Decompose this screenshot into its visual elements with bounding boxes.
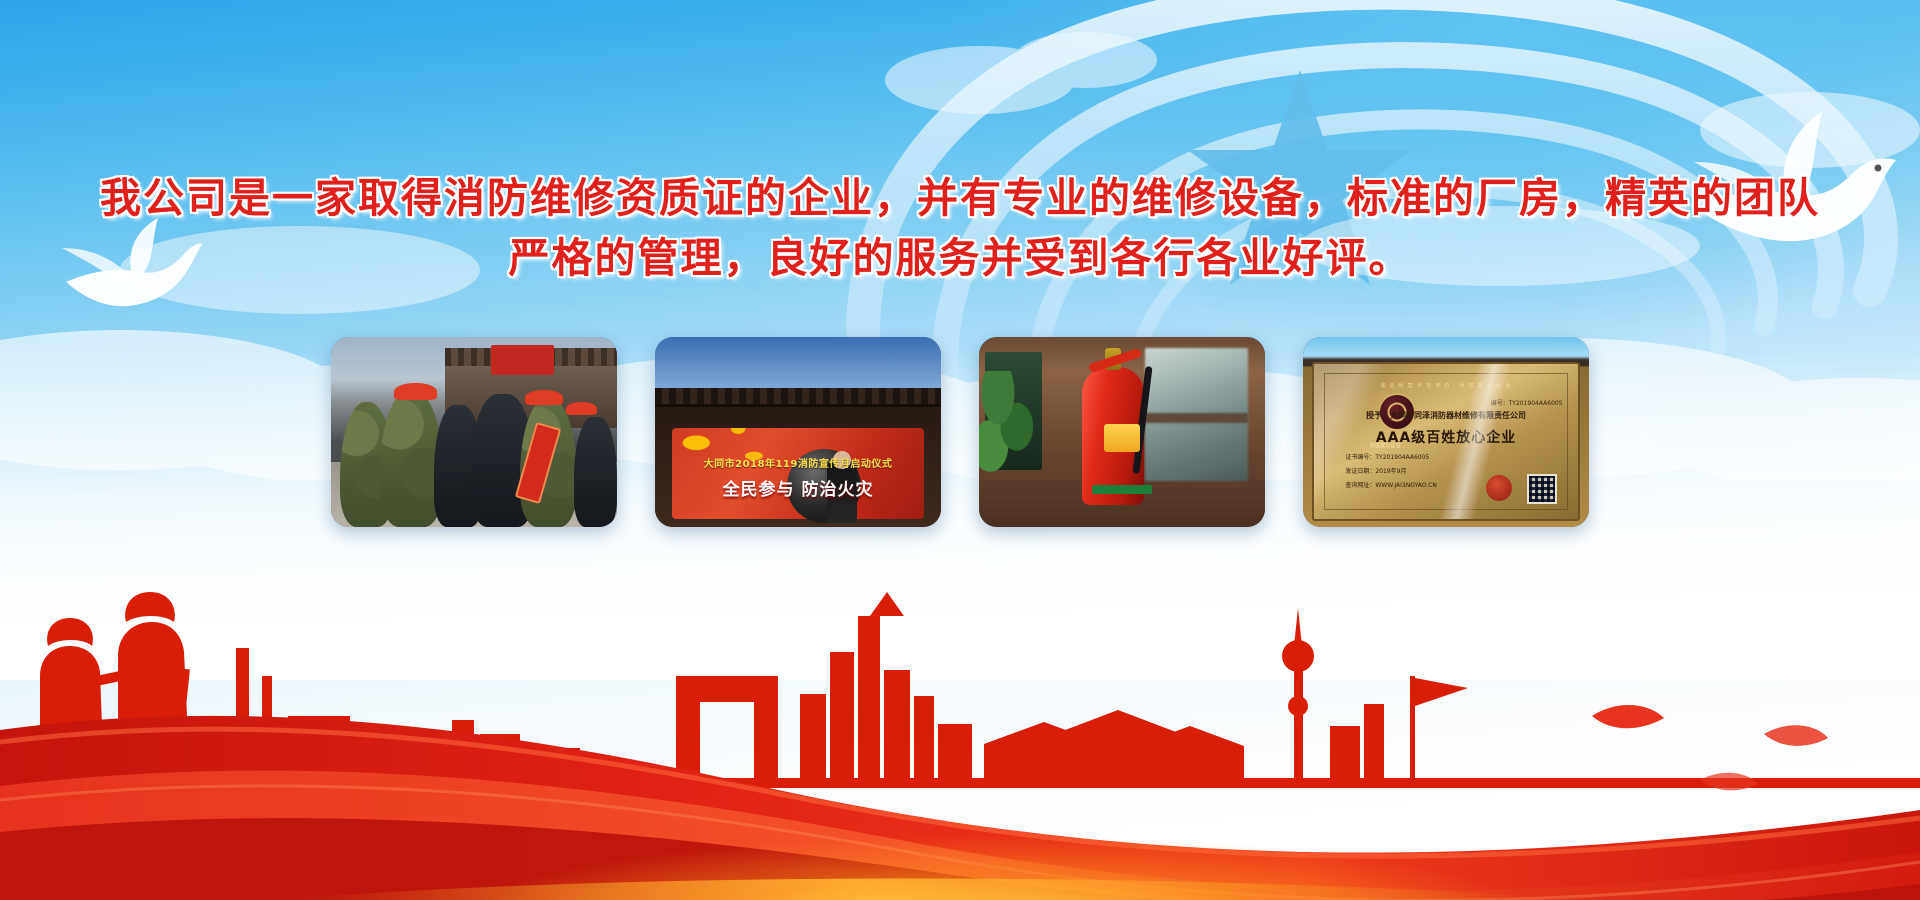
headline-line-2: 严格的管理，良好的服务并受到各行各业好评。	[0, 228, 1920, 288]
photo-fire-extinguisher	[979, 337, 1265, 527]
photo-aaa-plaque: 诚 信 经 营 示 范 单 位 · 百 姓 放 心 企 业 编号：TY20190…	[1303, 337, 1589, 527]
plaque-issue-date: 发证日期：2019年9月	[1345, 466, 1406, 475]
photo-card-leader-inspection[interactable]: 领导检查消防装备现场	[331, 337, 617, 527]
plaque-cert-no: 证书编号：TY201904AA6005	[1345, 452, 1429, 461]
firefighter-silhouette	[40, 592, 190, 781]
plaque-award-title: AAA级百姓放心企业	[1335, 427, 1557, 447]
photo-leader-inspection	[331, 337, 617, 527]
plaque-grant-line: 授予：大同市同泽消防器材维修有限责任公司	[1335, 410, 1557, 421]
red-ribbon-highlight	[0, 729, 1920, 856]
red-ribbon-highlight-2	[0, 786, 1920, 900]
petal-accents	[1592, 705, 1828, 790]
photo-card-119-ceremony[interactable]: 大同市2018年119消防宣传月启动仪式 全民参与 防治火灾 119消防宣传月启…	[655, 337, 941, 527]
gold-glow-strip	[300, 879, 1560, 900]
headline-line-1: 我公司是一家取得消防维修资质证的企业，并有专业的维修设备，标准的厂房，精英的团队	[0, 168, 1920, 228]
ceremony-banner-line-1: 大同市2018年119消防宣传月启动仪式	[675, 455, 921, 470]
plaque-qr-code-icon	[1527, 474, 1557, 504]
red-ribbon-wave-mid	[0, 771, 1920, 900]
red-footer-artwork	[0, 480, 1920, 900]
red-ribbon-wave-front	[0, 818, 1920, 900]
photo-card-aaa-plaque[interactable]: 诚 信 经 营 示 范 单 位 · 百 姓 放 心 企 业 编号：TY20190…	[1303, 337, 1589, 527]
headline-block: 我公司是一家取得消防维修资质证的企业，并有专业的维修设备，标准的厂房，精英的团队…	[0, 168, 1920, 288]
photo-card-fire-extinguisher[interactable]: 灭火器产品展示	[979, 337, 1265, 527]
bottom-gold-glow	[0, 780, 1920, 900]
photo-119-ceremony: 大同市2018年119消防宣传月启动仪式 全民参与 防治火灾	[655, 337, 941, 527]
plaque-top-row: 诚 信 经 营 示 范 单 位 · 百 姓 放 心 企 业	[1340, 382, 1552, 389]
city-skyline-silhouette	[0, 592, 1920, 788]
ceremony-banner-line-2: 全民参与 防治火灾	[675, 475, 921, 500]
plaque-red-badge-icon	[1486, 475, 1512, 501]
promo-banner: 我公司是一家取得消防维修资质证的企业，并有专业的维修设备，标准的厂房，精英的团队…	[0, 0, 1920, 900]
red-ribbon-wave-back	[0, 716, 1920, 900]
plaque-query-url: 查询网址：WWW.JAI3NGYAO.CN	[1345, 480, 1436, 489]
photo-card-row: 领导检查消防装备现场 大同市2018年119消防宣传月启动仪式 全民参与 防治火…	[0, 337, 1920, 527]
